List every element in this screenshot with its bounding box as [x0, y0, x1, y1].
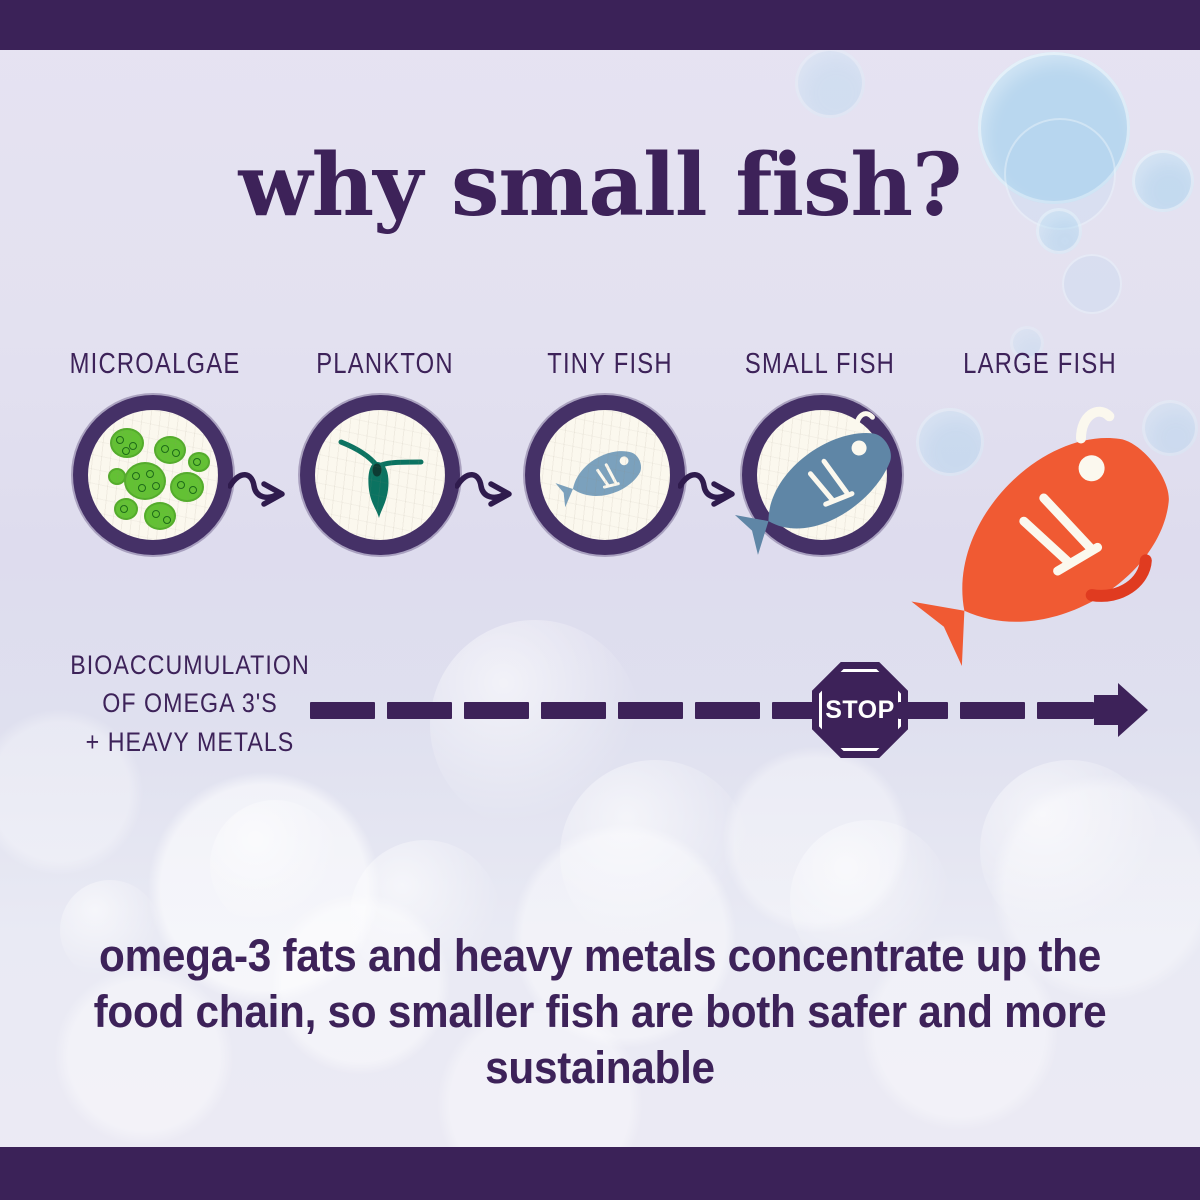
algae-blob	[110, 428, 144, 458]
bottom-accent-bar	[0, 1147, 1200, 1200]
stage-circle-microalgae	[88, 410, 218, 540]
axis-dash	[1037, 702, 1094, 719]
bioaccumulation-label-line-2: OF OMEGA 3'S	[44, 684, 336, 722]
algae-blob	[188, 452, 210, 472]
large-fish-icon	[900, 380, 1200, 700]
stage-label-tiny-fish: TINY FISH	[503, 348, 716, 381]
bubble-decoration	[1062, 254, 1122, 314]
bubble-decoration	[795, 48, 865, 118]
stage-label-microalgae: MICROALGAE	[48, 348, 261, 381]
axis-dash	[960, 702, 1025, 719]
bubble-decoration	[980, 760, 1160, 940]
stop-sign-label: STOP	[825, 696, 895, 725]
algae-blob	[170, 472, 204, 502]
squiggle-arrow-icon	[455, 462, 525, 514]
copepod-icon	[315, 410, 445, 540]
tiny-fish-icon	[540, 410, 670, 540]
bubble-decoration	[560, 760, 750, 950]
axis-dash	[464, 702, 529, 719]
bioaccumulation-label-line-1: BIOACCUMULATION	[44, 646, 336, 684]
axis-dash	[541, 702, 606, 719]
algae-blob	[124, 462, 166, 500]
bioaccumulation-label: BIOACCUMULATION OF OMEGA 3'S + HEAVY MET…	[44, 646, 336, 761]
algae-blob	[154, 436, 186, 464]
axis-dash	[898, 702, 948, 719]
infographic-poster: why small fish? MICROALGAE PLANKTON TINY…	[0, 0, 1200, 1200]
stage-circle-plankton	[315, 410, 445, 540]
page-title: why small fish?	[0, 143, 1200, 229]
stage-label-large-fish: LARGE FISH	[933, 348, 1146, 381]
bubble-decoration	[210, 800, 340, 930]
squiggle-arrow-icon	[228, 462, 298, 514]
algae-blob	[108, 468, 126, 485]
top-accent-bar	[0, 0, 1200, 50]
stop-sign-icon: STOP	[812, 662, 908, 758]
caption-text: omega-3 fats and heavy metals concentrat…	[83, 928, 1117, 1095]
axis-dash	[387, 702, 452, 719]
stage-circle-tiny-fish	[540, 410, 670, 540]
axis-dash	[695, 702, 760, 719]
algae-blob	[144, 502, 176, 530]
axis-dash	[310, 702, 375, 719]
bubble-decoration	[430, 620, 640, 830]
bioaccumulation-label-line-3: + HEAVY METALS	[44, 723, 336, 761]
axis-arrowhead-icon	[1092, 681, 1152, 739]
axis-dash	[618, 702, 683, 719]
stage-label-plankton: PLANKTON	[278, 348, 491, 381]
algae-blob	[114, 498, 138, 520]
